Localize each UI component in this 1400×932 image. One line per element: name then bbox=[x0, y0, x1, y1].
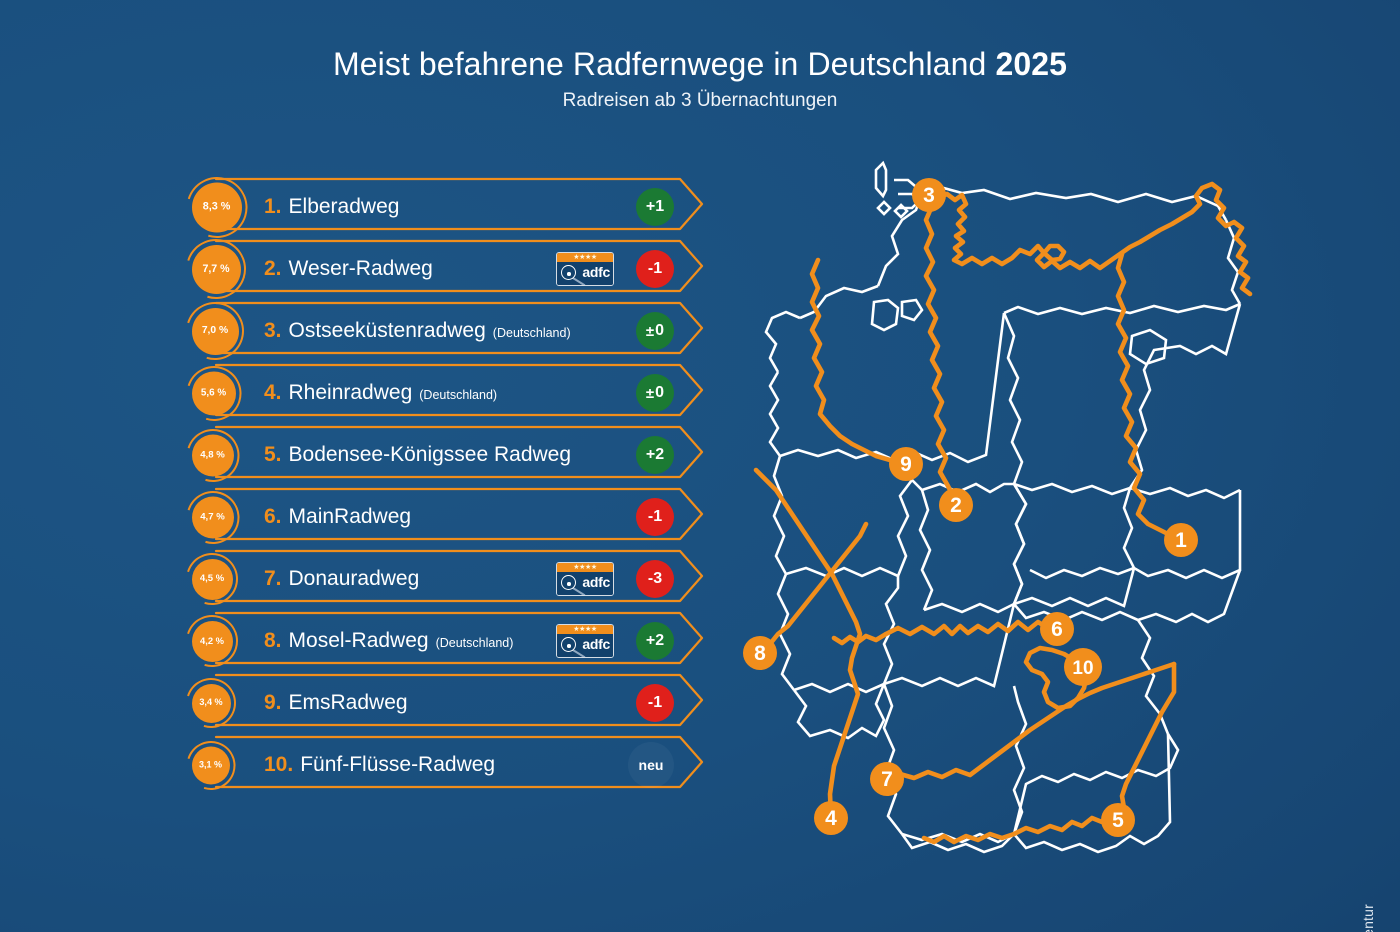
page-title: Meist befahrene Radfernwege in Deutschla… bbox=[0, 46, 1400, 83]
percentage-value: 7,7 % bbox=[202, 264, 229, 275]
percentage-disc: 4,5 % bbox=[192, 559, 233, 600]
adfc-badge-body: adfc bbox=[557, 572, 613, 595]
route-label: 5.Bodensee-Königssee Radweg bbox=[264, 443, 571, 467]
route-name: Ostseeküstenradweg bbox=[289, 319, 486, 343]
rank-change-badge: +1 bbox=[636, 188, 674, 226]
route-label: 10.Fünf-Flüsse-Radweg bbox=[264, 753, 495, 777]
magnifier-icon bbox=[561, 265, 576, 280]
percentage-value: 3,4 % bbox=[199, 698, 222, 707]
route-name: EmsRadweg bbox=[289, 691, 408, 715]
percentage-bubble: 3,4 % bbox=[186, 678, 236, 728]
adfc-quality-badge-icon: ★★★★adfc bbox=[556, 624, 614, 658]
rank-change-badge: -1 bbox=[636, 250, 674, 288]
rank-number: 2. bbox=[264, 257, 282, 281]
plus-minus-icon: ± bbox=[646, 386, 654, 401]
percentage-disc: 4,8 % bbox=[192, 434, 234, 476]
map-marker-label: 4 bbox=[825, 807, 837, 830]
route-name-suffix: (Deutschland) bbox=[436, 636, 514, 650]
adfc-stars: ★★★★ bbox=[557, 625, 613, 634]
rank-change-value: +1 bbox=[646, 199, 664, 215]
rank-change-badge: +2 bbox=[636, 622, 674, 660]
copyright-notice: ©ADFC/april agentur bbox=[1360, 904, 1376, 932]
rank-number: 8. bbox=[264, 629, 282, 653]
map-marker-label: 2 bbox=[950, 494, 962, 517]
adfc-wordmark: adfc bbox=[582, 265, 610, 279]
map-marker-label: 10 bbox=[1072, 658, 1093, 679]
route-label: 1.Elberadweg bbox=[264, 195, 399, 219]
infographic-canvas: Meist befahrene Radfernwege in Deutschla… bbox=[0, 0, 1400, 932]
route-label: 4.Rheinradweg(Deutschland) bbox=[264, 381, 497, 405]
percentage-value: 8,3 % bbox=[203, 202, 231, 213]
rank-change-value: -1 bbox=[648, 261, 662, 277]
percentage-bubble: 7,7 % bbox=[186, 239, 246, 299]
rank-change-value: -1 bbox=[648, 695, 662, 711]
rank-number: 1. bbox=[264, 195, 282, 219]
ranking-row[interactable]: 3,1 %10.Fünf-Flüsse-Radwegneu bbox=[186, 734, 706, 796]
rank-change-value: -3 bbox=[648, 571, 662, 587]
map-marker-label: 6 bbox=[1051, 618, 1063, 641]
rank-change-value: 0 bbox=[655, 385, 664, 401]
route-label: 8.Mosel-Radweg(Deutschland) bbox=[264, 629, 513, 653]
adfc-wordmark: adfc bbox=[582, 575, 610, 589]
percentage-bubble: 4,7 % bbox=[186, 491, 239, 544]
percentage-disc: 7,7 % bbox=[192, 245, 241, 294]
adfc-badge-body: adfc bbox=[557, 262, 613, 285]
map-marker-label: 3 bbox=[923, 184, 935, 207]
percentage-bubble: 4,2 % bbox=[186, 615, 238, 667]
map-svg: 12345678910 bbox=[726, 150, 1266, 870]
ranking-row[interactable]: 8,3 %1.Elberadweg+1 bbox=[186, 176, 706, 238]
route-name: Bodensee-Königssee Radweg bbox=[289, 443, 572, 467]
route-label: 7.Donauradweg bbox=[264, 567, 419, 591]
adfc-badge-body: adfc bbox=[557, 634, 613, 657]
route-label: 2.Weser-Radweg bbox=[264, 257, 433, 281]
percentage-bubble: 8,3 % bbox=[186, 177, 247, 238]
route-name: Mosel-Radweg bbox=[289, 629, 429, 653]
ranking-row[interactable]: 7,0 %3.Ostseeküstenradweg(Deutschland)±0 bbox=[186, 300, 706, 362]
map-marker-label: 8 bbox=[754, 642, 766, 665]
rank-change-badge: ±0 bbox=[636, 312, 674, 350]
percentage-bubble: 5,6 % bbox=[186, 366, 241, 421]
rank-change-value: 0 bbox=[655, 323, 664, 339]
route-name-suffix: (Deutschland) bbox=[419, 388, 497, 402]
magnifier-icon bbox=[561, 637, 576, 652]
percentage-value: 4,5 % bbox=[200, 574, 224, 584]
map-marker-label: 9 bbox=[900, 453, 912, 476]
percentage-disc: 4,2 % bbox=[192, 621, 233, 662]
route-name: Rheinradweg bbox=[289, 381, 413, 405]
route-name: MainRadweg bbox=[289, 505, 412, 529]
percentage-disc: 8,3 % bbox=[192, 182, 242, 232]
adfc-quality-badge-icon: ★★★★adfc bbox=[556, 252, 614, 286]
page-title-year: 2025 bbox=[995, 46, 1067, 82]
adfc-stars: ★★★★ bbox=[557, 253, 613, 262]
magnifier-icon bbox=[561, 575, 576, 590]
percentage-bubble: 7,0 % bbox=[186, 302, 244, 360]
ranking-row[interactable]: 7,7 %2.Weser-Radweg★★★★adfc-1 bbox=[186, 238, 706, 300]
rank-change-badge: +2 bbox=[636, 436, 674, 474]
ranking-row[interactable]: 4,5 %7.Donauradweg★★★★adfc-3 bbox=[186, 548, 706, 610]
plus-minus-icon: ± bbox=[646, 324, 654, 339]
percentage-value: 5,6 % bbox=[201, 388, 226, 398]
percentage-value: 3,1 % bbox=[199, 761, 222, 770]
adfc-quality-badge-icon: ★★★★adfc bbox=[556, 562, 614, 596]
route-name-suffix: (Deutschland) bbox=[493, 326, 571, 340]
route-name: Weser-Radweg bbox=[289, 257, 433, 281]
ranking-list: 8,3 %1.Elberadweg+17,7 %2.Weser-Radweg★★… bbox=[186, 176, 706, 796]
adfc-wordmark: adfc bbox=[582, 637, 610, 651]
ranking-row[interactable]: 4,2 %8.Mosel-Radweg(Deutschland)★★★★adfc… bbox=[186, 610, 706, 672]
percentage-bubble: 3,1 % bbox=[186, 741, 235, 790]
percentage-value: 4,7 % bbox=[200, 512, 225, 522]
rank-number: 9. bbox=[264, 691, 282, 715]
rank-number: 6. bbox=[264, 505, 282, 529]
rank-change-value: -1 bbox=[648, 509, 662, 525]
rank-change-badge: neu bbox=[628, 742, 674, 788]
rank-change-value: neu bbox=[639, 758, 664, 772]
rank-change-value: +2 bbox=[646, 633, 664, 649]
header: Meist befahrene Radfernwege in Deutschla… bbox=[0, 46, 1400, 112]
page-title-main: Meist befahrene Radfernwege in Deutschla… bbox=[333, 46, 995, 82]
route-label: 3.Ostseeküstenradweg(Deutschland) bbox=[264, 319, 571, 343]
rank-number: 3. bbox=[264, 319, 282, 343]
ranking-row[interactable]: 3,4 %9.EmsRadweg-1 bbox=[186, 672, 706, 734]
rank-number: 5. bbox=[264, 443, 282, 467]
percentage-disc: 3,4 % bbox=[192, 684, 231, 723]
percentage-disc: 3,1 % bbox=[192, 746, 230, 784]
route-name: Fünf-Flüsse-Radweg bbox=[300, 753, 495, 777]
percentage-value: 7,0 % bbox=[202, 326, 228, 336]
route-label: 9.EmsRadweg bbox=[264, 691, 408, 715]
percentage-disc: 5,6 % bbox=[192, 371, 236, 415]
map-marker-label: 5 bbox=[1112, 809, 1124, 832]
rank-number: 10. bbox=[264, 753, 293, 777]
percentage-value: 4,2 % bbox=[200, 636, 224, 645]
rank-change-value: +2 bbox=[646, 447, 664, 463]
percentage-bubble: 4,5 % bbox=[186, 553, 238, 605]
rank-change-badge: -3 bbox=[636, 560, 674, 598]
rank-change-badge: -1 bbox=[636, 498, 674, 536]
percentage-bubble: 4,8 % bbox=[186, 429, 239, 482]
rank-change-badge: -1 bbox=[636, 684, 674, 722]
map-cycle-routes bbox=[756, 184, 1250, 842]
ranking-row[interactable]: 4,7 %6.MainRadweg-1 bbox=[186, 486, 706, 548]
percentage-value: 4,8 % bbox=[200, 450, 225, 460]
page-subtitle: Radreisen ab 3 Übernachtungen bbox=[0, 90, 1400, 112]
rank-number: 4. bbox=[264, 381, 282, 405]
route-name: Donauradweg bbox=[289, 567, 420, 591]
map-marker-label: 7 bbox=[881, 768, 893, 791]
germany-map: 12345678910 bbox=[726, 150, 1266, 870]
ranking-row[interactable]: 5,6 %4.Rheinradweg(Deutschland)±0 bbox=[186, 362, 706, 424]
percentage-disc: 4,7 % bbox=[192, 496, 234, 538]
route-label: 6.MainRadweg bbox=[264, 505, 411, 529]
rank-change-badge: ±0 bbox=[636, 374, 674, 412]
rank-number: 7. bbox=[264, 567, 282, 591]
ranking-row[interactable]: 4,8 %5.Bodensee-Königssee Radweg+2 bbox=[186, 424, 706, 486]
adfc-stars: ★★★★ bbox=[557, 563, 613, 572]
map-marker-label: 1 bbox=[1175, 529, 1187, 552]
route-name: Elberadweg bbox=[289, 195, 400, 219]
percentage-disc: 7,0 % bbox=[192, 308, 239, 355]
